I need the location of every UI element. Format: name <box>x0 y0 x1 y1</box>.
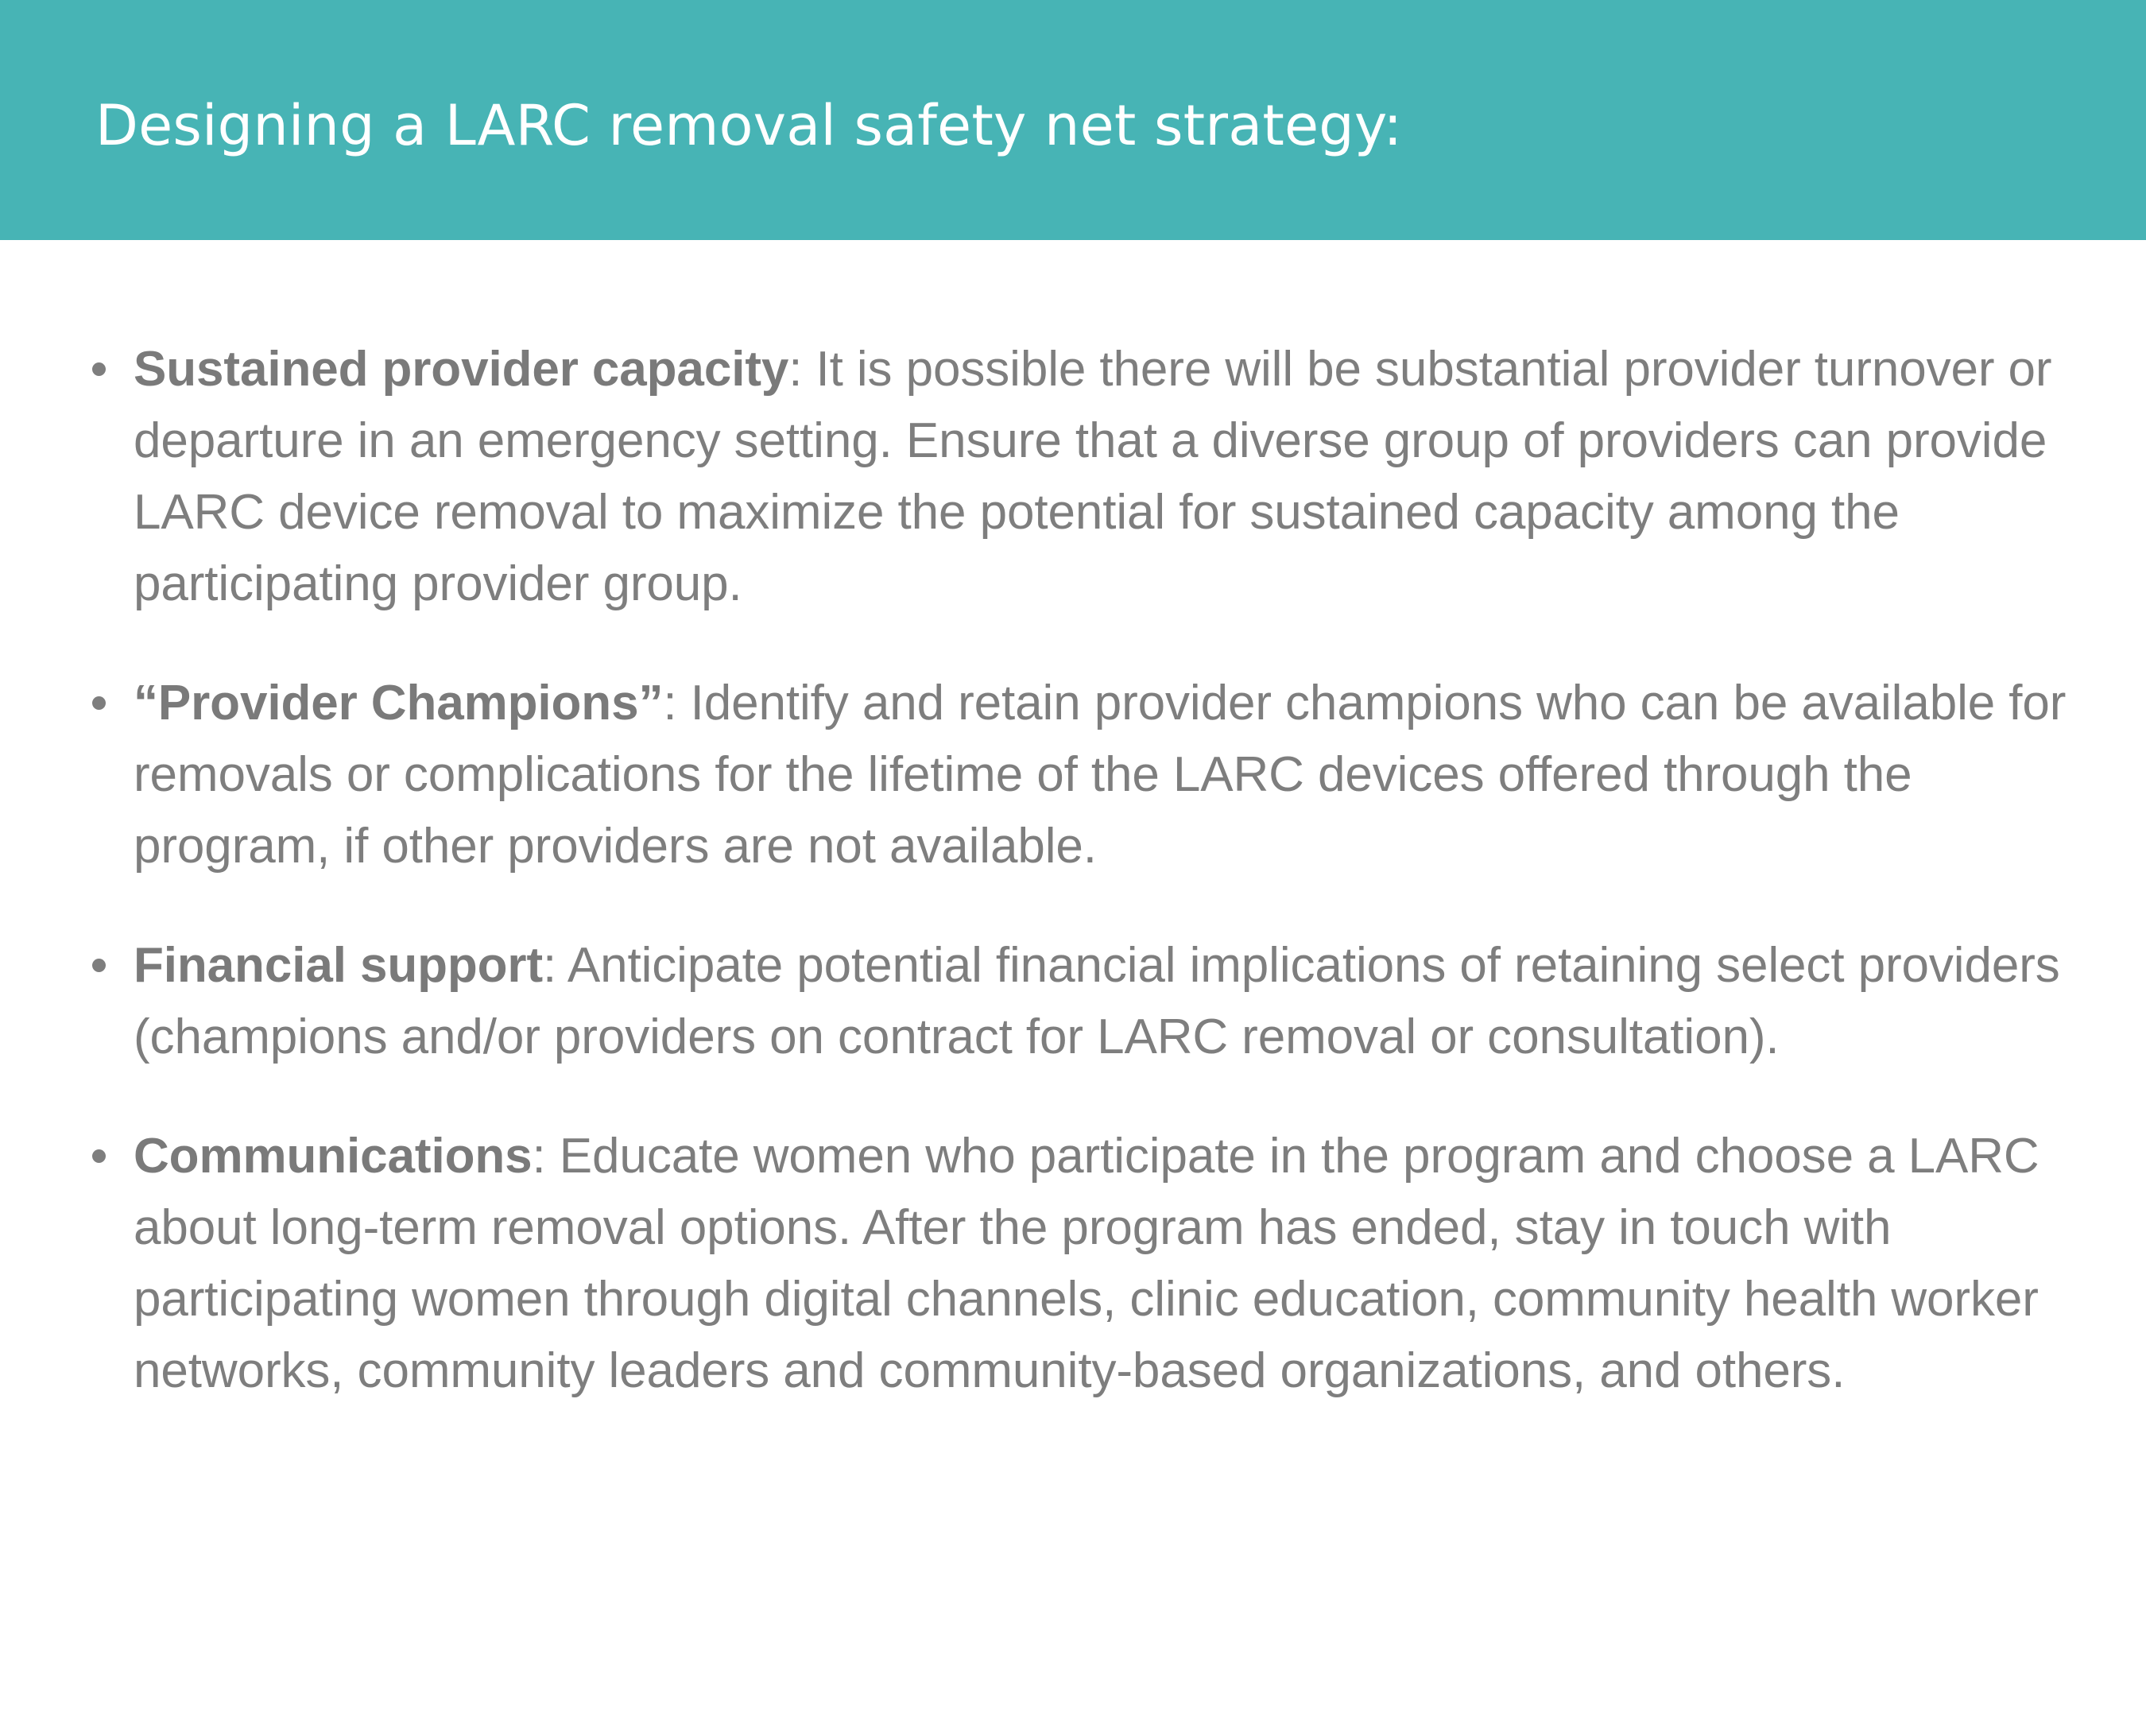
bullet-lead-label: “Provider Champions” <box>134 676 663 730</box>
bullet-lead-label: Communications <box>134 1129 533 1184</box>
list-item: Sustained provider capacity: It is possi… <box>81 334 2100 620</box>
bullet-lead-label: Sustained provider capacity <box>134 342 788 397</box>
bullet-text: Financial support: Anticipate potential … <box>134 930 2100 1073</box>
bullet-dot-icon <box>92 1149 106 1163</box>
bullet-text: Communications: Educate women who partic… <box>134 1121 2100 1407</box>
list-item: “Provider Champions”: Identify and retai… <box>81 668 2100 882</box>
bullet-dot-icon <box>92 959 106 972</box>
bullet-text: Sustained provider capacity: It is possi… <box>134 334 2100 620</box>
slide: Designing a LARC removal safety net stra… <box>0 0 2146 1736</box>
slide-body: Sustained provider capacity: It is possi… <box>0 240 2146 1736</box>
bullet-dot-icon <box>92 696 106 710</box>
bullet-list: Sustained provider capacity: It is possi… <box>81 334 2100 1407</box>
bullet-dot-icon <box>92 362 106 376</box>
list-item: Financial support: Anticipate potential … <box>81 930 2100 1073</box>
page-title: Designing a LARC removal safety net stra… <box>95 92 1402 159</box>
list-item: Communications: Educate women who partic… <box>81 1121 2100 1407</box>
bullet-lead-label: Financial support <box>134 938 543 993</box>
bullet-text: “Provider Champions”: Identify and retai… <box>134 668 2100 882</box>
header-band: Designing a LARC removal safety net stra… <box>0 0 2146 240</box>
